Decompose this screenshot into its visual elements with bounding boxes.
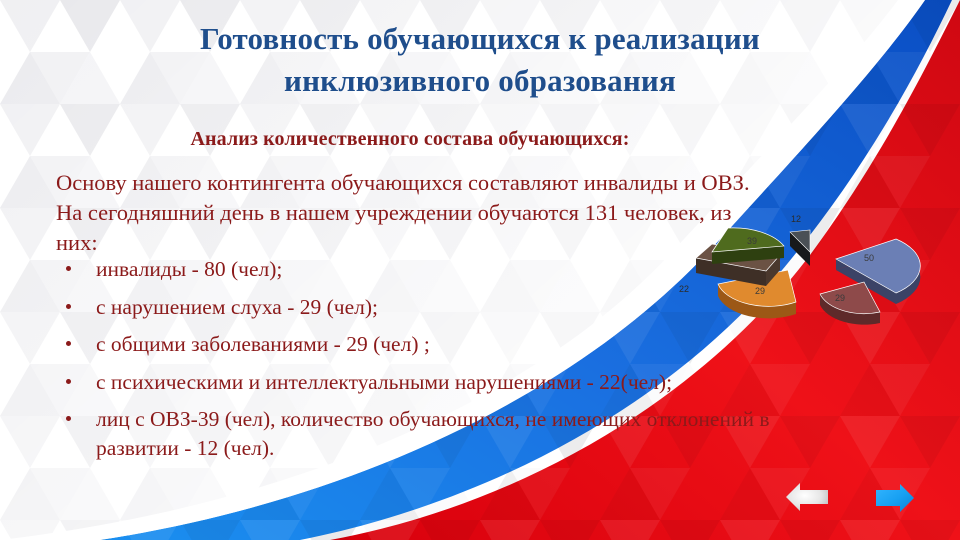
section-subheading: Анализ количественного состава обучающих… — [60, 128, 760, 151]
pie-slice-39: 39 — [712, 228, 784, 264]
next-slide-arrow[interactable] — [874, 482, 916, 514]
pie-label-50: 50 — [864, 253, 874, 263]
pie-label-39: 39 — [747, 236, 757, 246]
pie-label-29-red: 29 — [835, 293, 845, 303]
pie-chart-svg: 50 29 29 22 — [668, 208, 936, 353]
next-arrow-icon — [876, 484, 914, 512]
bullet-dot-icon — [66, 341, 71, 346]
list-item-label: инвалиды - 80 (чел); — [96, 257, 282, 281]
bullet-dot-icon — [66, 416, 71, 421]
list-item: с психическими и интеллектуальными наруш… — [56, 368, 776, 397]
pie-label-12: 12 — [791, 214, 801, 224]
list-item-label: с общими заболеваниями - 29 (чел) ; — [96, 332, 430, 356]
bullet-dot-icon — [66, 304, 71, 309]
list-item: лиц с ОВЗ-39 (чел), количество обучающих… — [56, 405, 776, 462]
pie-label-29-orange: 29 — [755, 286, 765, 296]
bullet-dot-icon — [66, 379, 71, 384]
pie-chart: 50 29 29 22 — [668, 208, 936, 353]
prev-slide-arrow[interactable] — [784, 479, 830, 515]
prev-arrow-icon — [786, 483, 828, 511]
pie-slice-12: 12 — [790, 214, 810, 266]
bullet-dot-icon — [66, 266, 71, 271]
presentation-slide: Готовность обучающихся к реализации инкл… — [0, 0, 960, 540]
slide-title: Готовность обучающихся к реализации инкл… — [110, 18, 850, 102]
list-item-label: с психическими и интеллектуальными наруш… — [96, 370, 672, 394]
list-item-label: лиц с ОВЗ-39 (чел), количество обучающих… — [96, 407, 770, 460]
intro-paragraph: Основу нашего контингента обучающихся со… — [56, 168, 756, 258]
list-item-label: с нарушением слуха - 29 (чел); — [96, 295, 378, 319]
pie-label-22: 22 — [679, 284, 689, 294]
